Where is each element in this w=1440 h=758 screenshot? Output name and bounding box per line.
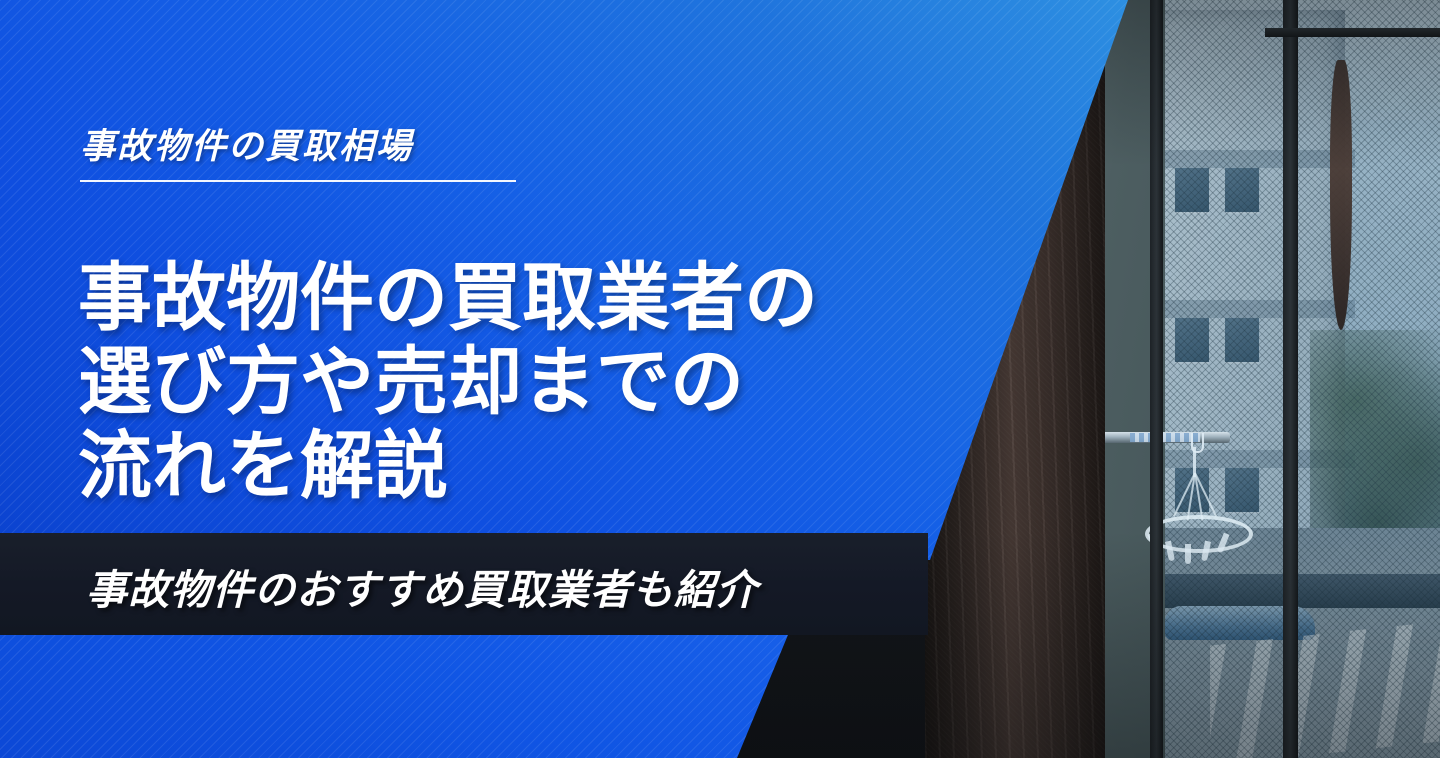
- headline-line-1: 事故物件の買取業者の: [78, 256, 938, 340]
- eyebrow-label: 事故物件の買取相場: [80, 118, 413, 169]
- headline-line-3: 流れを解説: [78, 424, 938, 508]
- page-title: 事故物件の買取業者の 選び方や売却までの 流れを解説: [78, 256, 938, 509]
- subtitle-text: 事故物件のおすすめ買取業者も紹介: [86, 556, 758, 616]
- headline-line-2: 選び方や売却までの: [78, 340, 938, 424]
- eyebrow-underline: [80, 180, 516, 182]
- hero-banner: 事故物件の買取相場 事故物件の買取業者の 選び方や売却までの 流れを解説 事故物…: [0, 0, 1440, 758]
